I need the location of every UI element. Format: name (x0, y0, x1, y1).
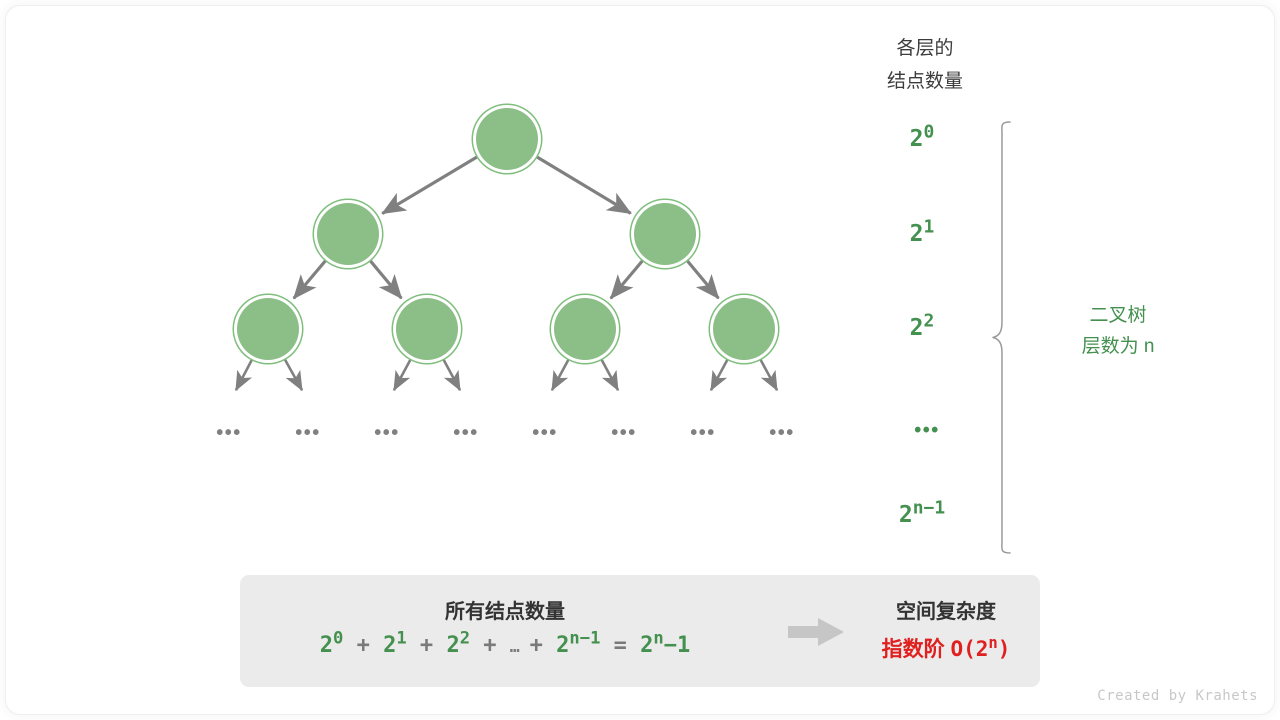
tree-node-l2-a (237, 298, 299, 360)
tree-node-l2-d (713, 298, 775, 360)
leaf-ellipsis-1: ••• (295, 423, 321, 443)
formula-term: 22 (446, 633, 470, 658)
leaf-ellipsis-5: ••• (611, 423, 637, 443)
leaf-ellipsis-6: ••• (690, 423, 716, 443)
tree-node-l1-b (634, 203, 696, 265)
column-header-line1: 各层的 (840, 32, 1010, 65)
leaf-ellipsis-4: ••• (532, 423, 558, 443)
column-header-line2: 结点数量 (840, 65, 1010, 98)
node-count-column-header: 各层的 结点数量 (840, 32, 1010, 98)
formula-operator: + (470, 633, 510, 658)
curly-brace-icon (990, 120, 1020, 555)
formula-term: 20 (320, 633, 344, 658)
complexity-expression: O(2n) (950, 637, 1010, 661)
tree-node-l2-c (554, 298, 616, 360)
level-count-level-1: 21 (910, 221, 935, 247)
formula-operator: + (343, 633, 383, 658)
level-count-level-n-1: 2n−1 (899, 502, 945, 528)
formula-operator: = (600, 633, 640, 658)
level-count-level-dots: ••• (914, 420, 940, 443)
complexity-order-label: 指数阶 (882, 638, 951, 661)
tree-node-l1-a (317, 203, 379, 265)
leaf-ellipsis-7: ••• (769, 423, 795, 443)
tree-node-root (476, 108, 538, 170)
formula-term: 21 (383, 633, 407, 658)
summary-left-title: 所有结点数量 (240, 575, 770, 624)
level-count-level-2: 22 (910, 315, 935, 341)
tree-note-line1: 二叉树 (1028, 300, 1208, 331)
figure-canvas: •••••••••••••••••••••••• 各层的 结点数量 202122… (0, 0, 1280, 720)
formula-operator: + (530, 633, 557, 658)
formula-term: 2n−1 (556, 633, 600, 658)
summary-right: 空间复杂度 指数阶 O(2n) (852, 575, 1040, 687)
credit-text: Created by Krahets (1097, 688, 1258, 704)
tree-node-l2-b (396, 298, 458, 360)
tree-note-line2: 层数为 n (1028, 331, 1208, 362)
leaf-ellipsis-0: ••• (216, 423, 242, 443)
tree-depth-note: 二叉树 层数为 n (1028, 300, 1208, 362)
leaf-ellipsis-2: ••• (374, 423, 400, 443)
total-nodes-formula: 20 + 21 + 22 + … + 2n−1 = 2n−1 (240, 633, 770, 658)
summary-left: 所有结点数量 20 + 21 + 22 + … + 2n−1 = 2n−1 (240, 575, 770, 687)
formula-ellipsis: … (510, 637, 530, 656)
level-count-level-0: 20 (910, 126, 935, 152)
leaf-ellipsis-3: ••• (453, 423, 479, 443)
summary-box: 所有结点数量 20 + 21 + 22 + … + 2n−1 = 2n−1 空间… (240, 575, 1040, 687)
space-complexity-title: 空间复杂度 (852, 575, 1040, 624)
right-arrow-icon (788, 617, 846, 647)
formula-term: 2n−1 (640, 633, 690, 658)
formula-operator: + (407, 633, 447, 658)
space-complexity-value: 指数阶 O(2n) (852, 633, 1040, 663)
